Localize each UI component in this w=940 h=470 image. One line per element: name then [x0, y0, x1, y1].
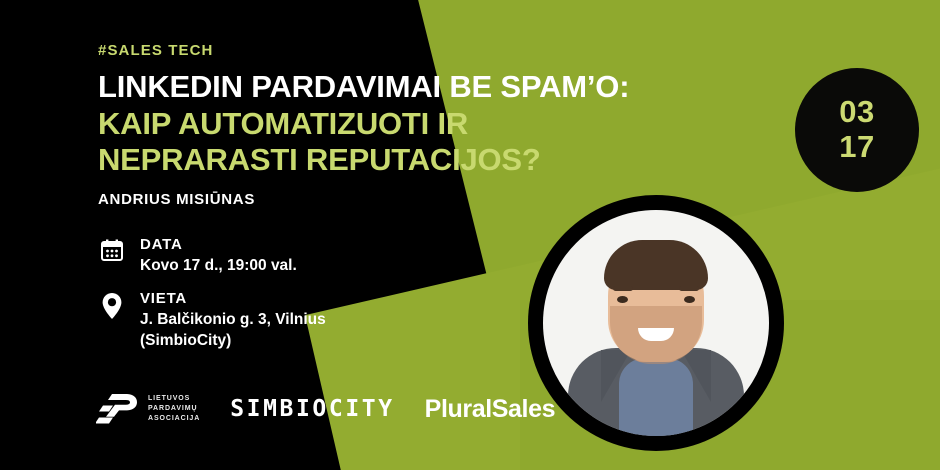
- portrait-collar-left: [601, 350, 631, 402]
- date-badge-day: 17: [839, 131, 874, 164]
- detail-label-date: DATA: [140, 236, 297, 255]
- lpa-word-line-1: LIETUVOS: [148, 394, 200, 404]
- location-pin-icon: [98, 290, 126, 320]
- portrait-hair: [604, 240, 708, 290]
- headline-line-1: LINKEDIN PARDAVIMAI BE SPAM’O:: [98, 69, 658, 106]
- headline-line-3: NEPRARASTI REPUTACIJOS?: [98, 142, 658, 179]
- portrait-brow-right: [679, 286, 699, 291]
- lpa-monogram-icon: [96, 392, 140, 426]
- lpa-word-line-3: ASOCIACIJA: [148, 414, 200, 424]
- detail-row-date: DATA Kovo 17 d., 19:00 val.: [98, 236, 498, 276]
- speaker-portrait: [528, 195, 784, 451]
- detail-value-date: Kovo 17 d., 19:00 val.: [140, 255, 297, 276]
- portrait-collar-right: [681, 350, 711, 402]
- calendar-icon: [98, 236, 126, 266]
- date-badge-month: 03: [839, 96, 874, 129]
- event-details: DATA Kovo 17 d., 19:00 val. VIETA J. Bal…: [98, 236, 498, 366]
- lpa-wordmark: LIETUVOS PARDAVIMŲ ASOCIACIJA: [148, 394, 200, 424]
- detail-text-location: VIETA J. Balčikonio g. 3, Vilnius (Simbi…: [140, 290, 326, 352]
- detail-value-location-street: J. Balčikonio g. 3, Vilnius: [140, 309, 326, 330]
- portrait-eye-left: [617, 296, 628, 303]
- speaker-name: ANDRIUS MISIŪNAS: [98, 191, 658, 208]
- detail-text-date: DATA Kovo 17 d., 19:00 val.: [140, 236, 297, 276]
- portrait-eye-right: [684, 296, 695, 303]
- detail-label-location: VIETA: [140, 290, 326, 309]
- logo-pluralsales: PluralSales: [425, 395, 555, 424]
- event-poster: 03 17 #SALES TECH LINKEDIN PARDAVIMAI BE…: [0, 0, 940, 470]
- headline-block: #SALES TECH LINKEDIN PARDAVIMAI BE SPAM’…: [98, 42, 658, 208]
- logo-lietuvos-pardavimu-asociacija: LIETUVOS PARDAVIMŲ ASOCIACIJA: [96, 392, 200, 426]
- page-title: LINKEDIN PARDAVIMAI BE SPAM’O: KAIP AUTO…: [98, 69, 658, 179]
- detail-row-location: VIETA J. Balčikonio g. 3, Vilnius (Simbi…: [98, 290, 498, 352]
- date-badge: 03 17: [795, 68, 919, 192]
- headline-line-2: KAIP AUTOMATIZUOTI IR: [98, 106, 658, 143]
- logo-simbiocity: SIMBIOCITY: [230, 396, 394, 422]
- portrait-image: [543, 210, 769, 436]
- sponsor-logos: LIETUVOS PARDAVIMŲ ASOCIACIJA SIMBIOCITY…: [96, 392, 555, 426]
- eyebrow-tag: #SALES TECH: [98, 42, 658, 59]
- detail-value-location-venue: (SimbioCity): [140, 330, 326, 351]
- lpa-word-line-2: PARDAVIMŲ: [148, 404, 200, 414]
- portrait-brow-left: [613, 286, 633, 291]
